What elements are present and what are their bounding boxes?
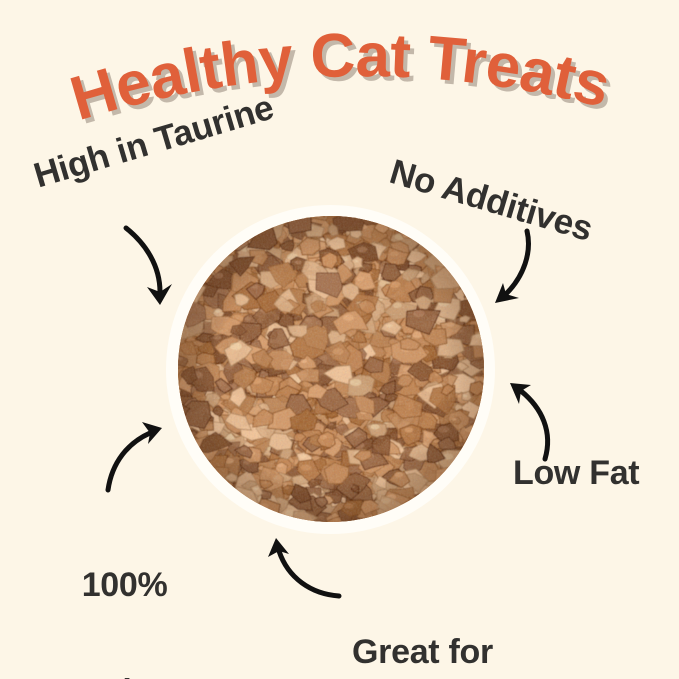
callout-label-low-fat: Low Fat	[513, 456, 639, 492]
arrow-high-in-taurine	[126, 228, 172, 305]
page-title-shadow-text: Healthy Cat Treats	[67, 25, 620, 138]
callout-label-high-in-taurine: High in Taurine	[30, 90, 278, 196]
page-title-main: Healthy Cat Treats	[63, 21, 616, 134]
arrow-great-for-allergies	[268, 538, 339, 596]
page-title-text: Healthy Cat Treats	[63, 21, 616, 134]
page-title-shadow: Healthy Cat Treats	[67, 25, 620, 138]
callout-label-100-percent-turkey-line1: 100%	[71, 568, 178, 604]
callout-label-great-for-allergies: Great for Allergies	[352, 564, 493, 679]
callout-label-100-percent-turkey-line2: Turkey	[71, 675, 178, 679]
arrow-100-percent-turkey	[108, 422, 162, 490]
callout-label-100-percent-turkey: 100% Turkey	[71, 497, 178, 679]
freeze-dried-turkey-treats-photo	[178, 216, 484, 522]
treats-photo-svg	[178, 216, 484, 522]
callout-label-great-for-allergies-line1: Great for	[352, 635, 493, 671]
arrow-low-fat	[510, 383, 548, 459]
arrow-no-additives	[495, 231, 528, 303]
infographic-canvas: Healthy Cat Treats Healthy Cat Treats	[0, 0, 679, 679]
